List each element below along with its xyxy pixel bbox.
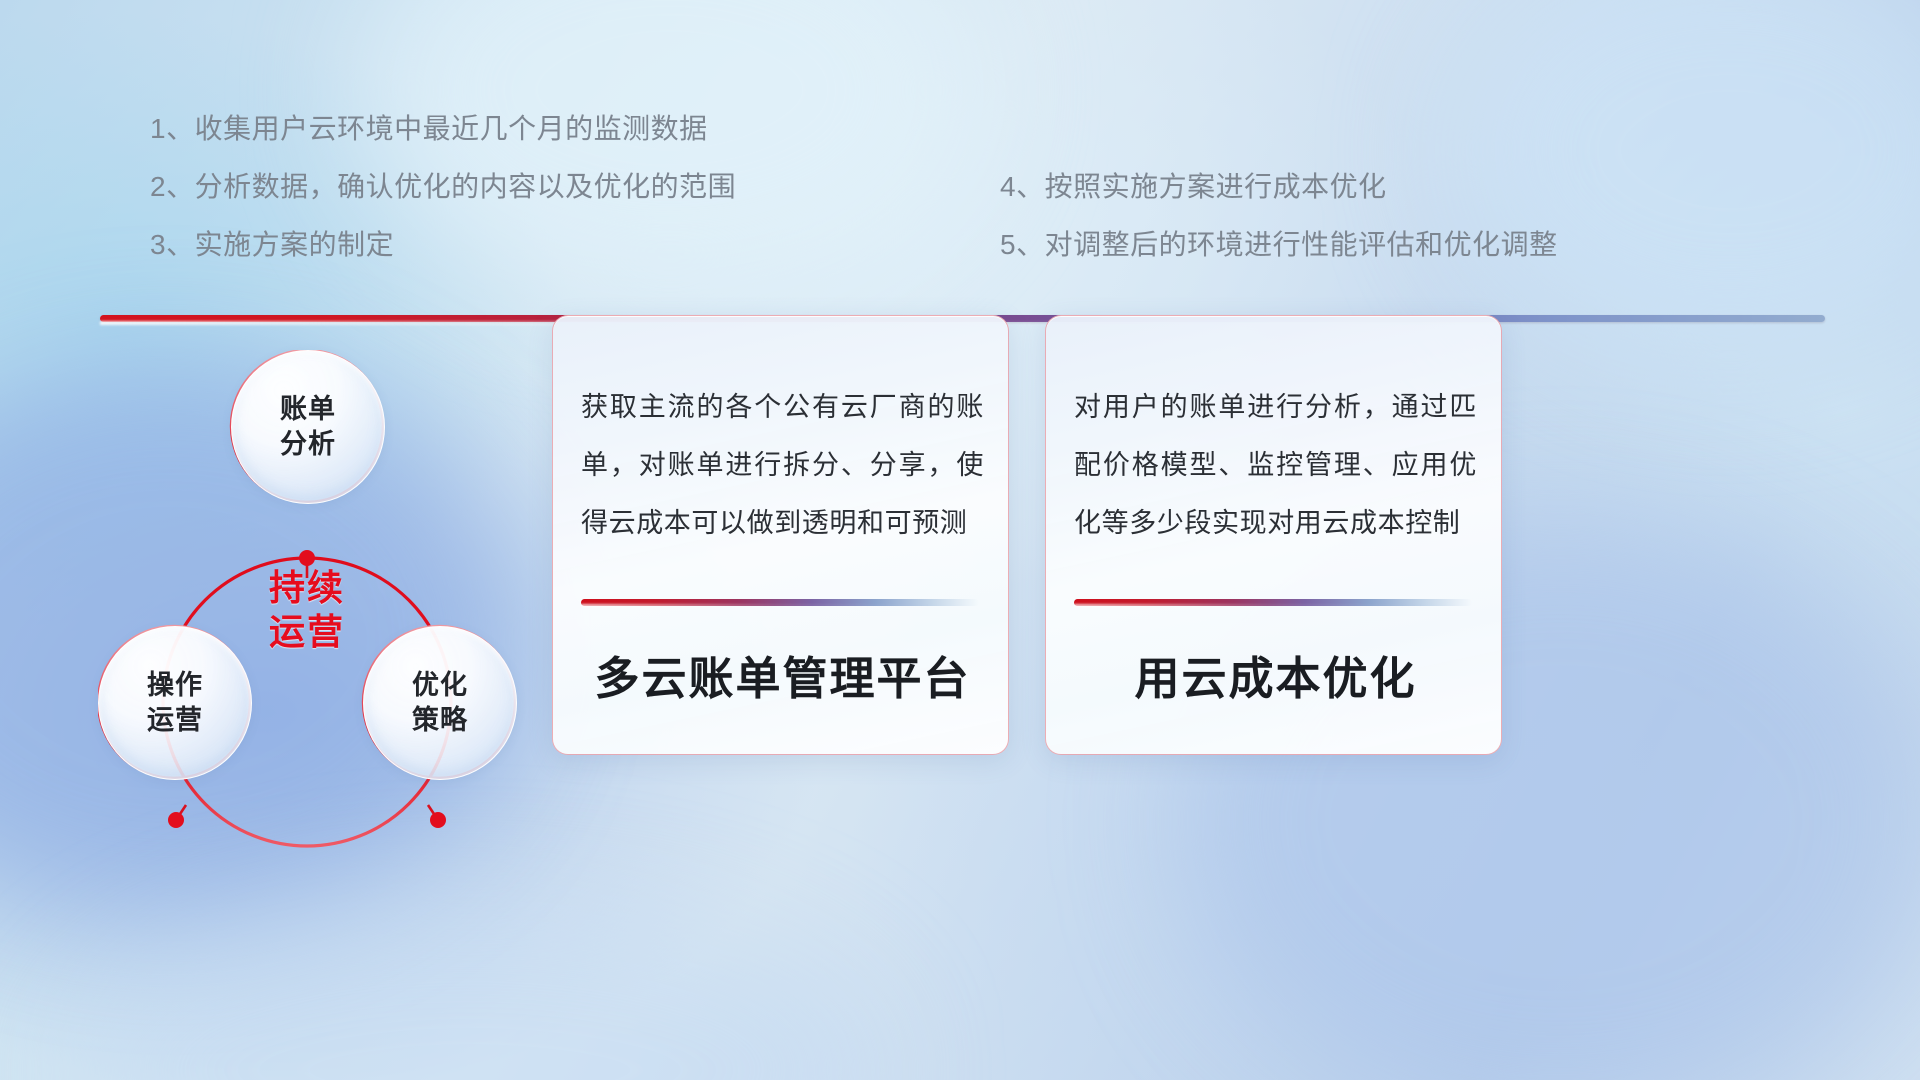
slide-canvas: 1、收集用户云环境中最近几个月的监测数据 2、分析数据，确认优化的内容以及优化的… [0,0,1920,1080]
venn-center-area: 持续 运营 [231,520,383,700]
feature-card-1-body: 获取主流的各个公有云厂商的账单，对账单进行拆分、分享，使得云成本可以做到透明和可… [581,378,984,552]
feature-card-2-title: 用云成本优化 [1074,642,1477,707]
feature-card-1-rule [581,599,979,606]
feature-card-2-rule [1074,599,1472,606]
step-item-4: 4、按照实施方案进行成本优化 [1000,158,1558,216]
venn-center-label: 持续 运营 [269,566,345,654]
steps-right-column: 4、按照实施方案进行成本优化 5、对调整后的环境进行性能评估和优化调整 [1000,158,1558,274]
feature-card-2-body: 对用户的账单进行分析，通过匹配价格模型、监控管理、应用优化等多少段实现对用云成本… [1074,378,1477,552]
venn-bubble-right-label: 优化 策略 [412,668,468,737]
venn-bubble-left-label: 操作 运营 [147,668,203,737]
step-item-2: 2、分析数据，确认优化的内容以及优化的范围 [150,158,736,216]
venn-node-left [168,812,184,828]
step-item-1: 1、收集用户云环境中最近几个月的监测数据 [150,100,736,158]
venn-bubble-optimization-strategy[interactable]: 优化 策略 [363,626,517,780]
venn-diagram: 账单 分析 操作 运营 优化 策略 持续 运营 [98,350,568,950]
venn-bubble-billing-analysis[interactable]: 账单 分析 [231,350,385,504]
venn-bubble-operations[interactable]: 操作 运营 [98,626,252,780]
feature-card-multi-cloud-billing[interactable]: 获取主流的各个公有云厂商的账单，对账单进行拆分、分享，使得云成本可以做到透明和可… [552,315,1009,755]
process-steps: 1、收集用户云环境中最近几个月的监测数据 2、分析数据，确认优化的内容以及优化的… [0,96,1920,256]
steps-left-column: 1、收集用户云环境中最近几个月的监测数据 2、分析数据，确认优化的内容以及优化的… [150,100,736,274]
step-item-3: 3、实施方案的制定 [150,216,736,274]
feature-card-cloud-cost-optimization[interactable]: 对用户的账单进行分析，通过匹配价格模型、监控管理、应用优化等多少段实现对用云成本… [1045,315,1502,755]
venn-bubble-top-label: 账单 分析 [280,392,336,461]
feature-card-1-title: 多云账单管理平台 [581,642,984,707]
step-item-5: 5、对调整后的环境进行性能评估和优化调整 [1000,216,1558,274]
venn-node-right [430,812,446,828]
